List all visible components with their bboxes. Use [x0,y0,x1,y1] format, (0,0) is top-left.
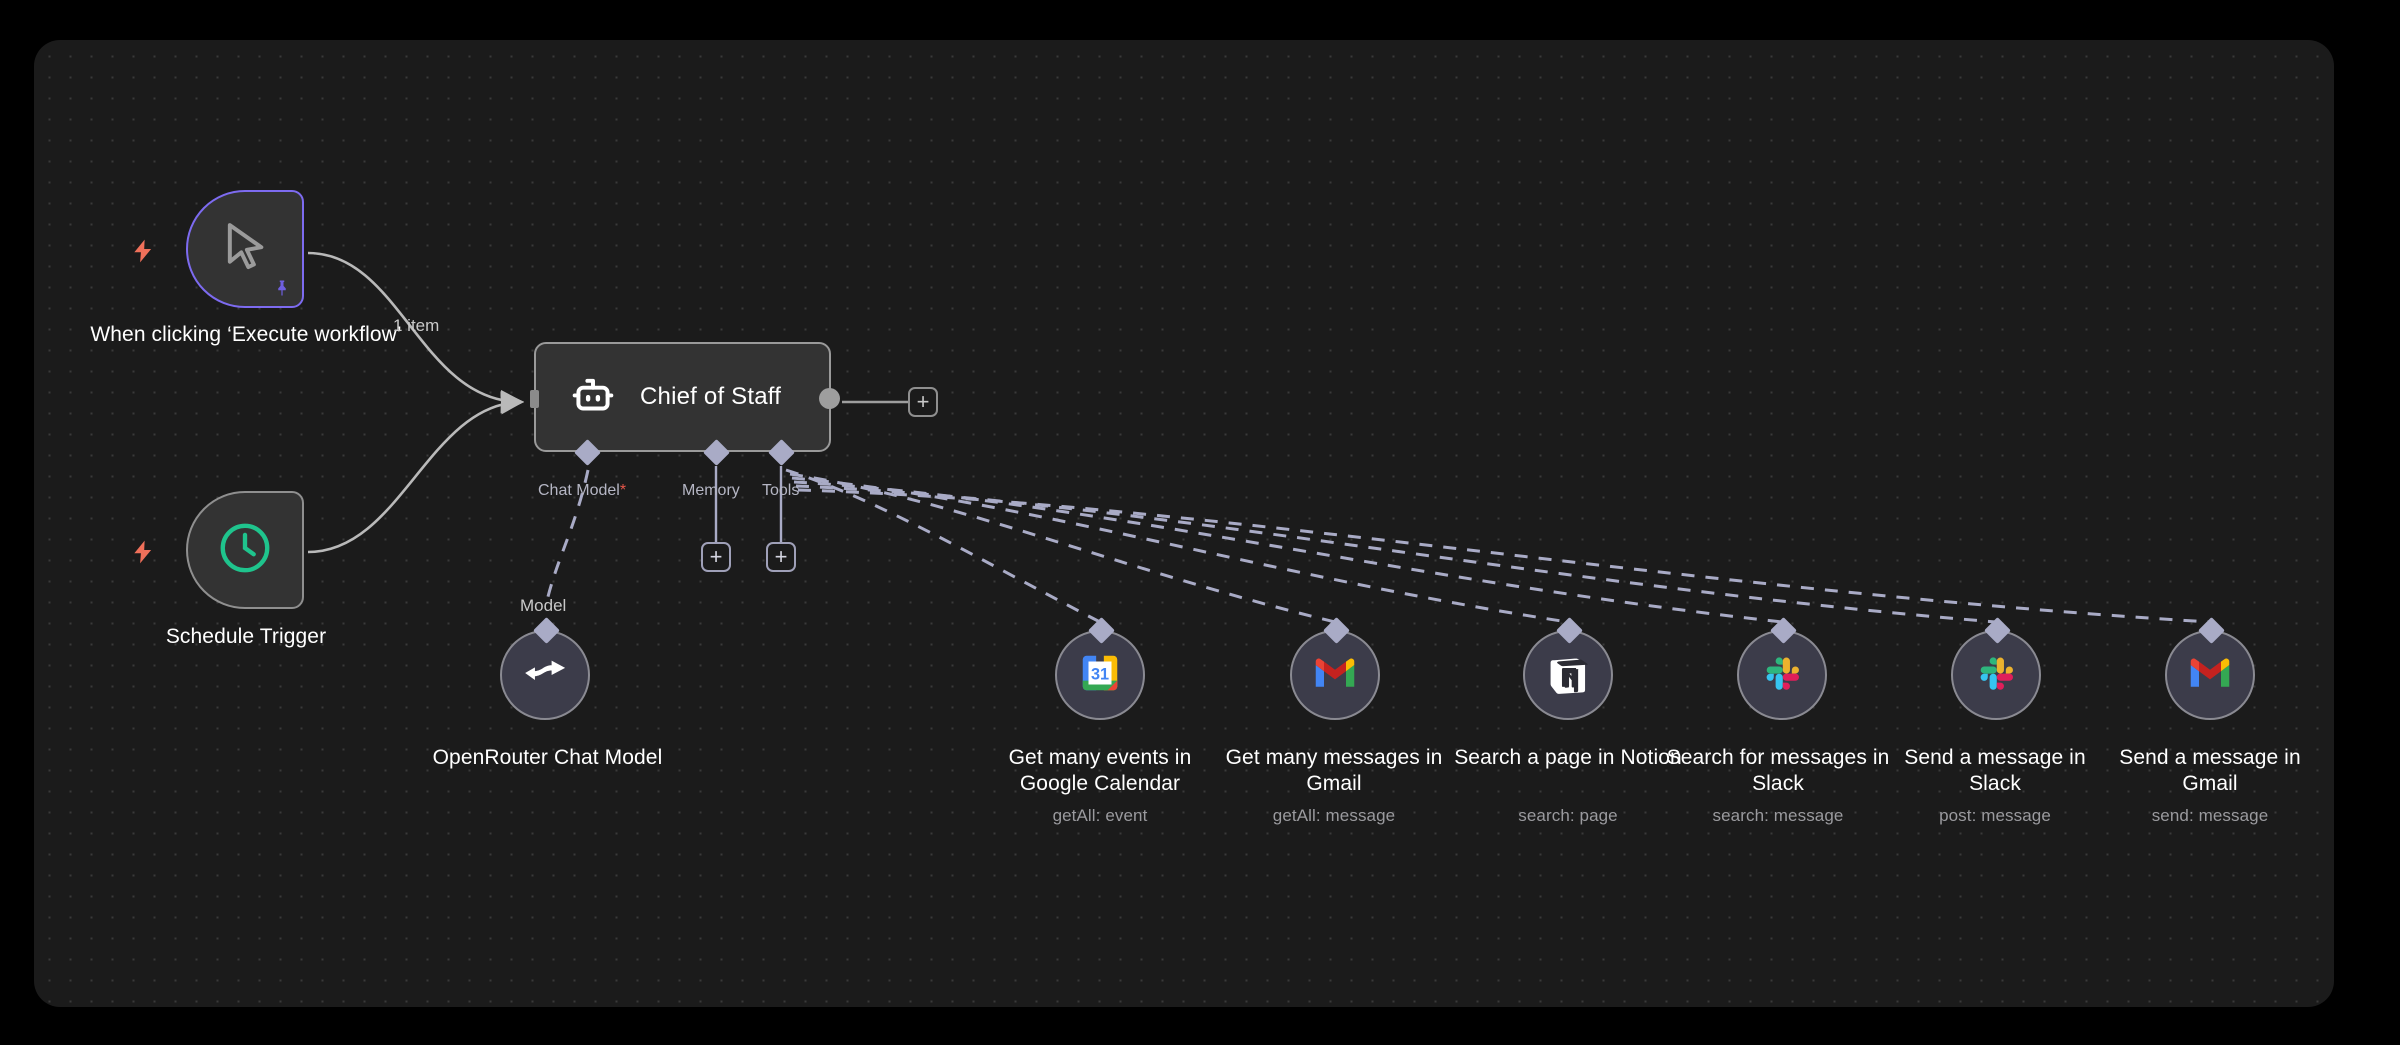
google-calendar-icon: 31 [1077,650,1123,701]
connector-tools-label: Tools [762,482,799,500]
node-slack-search-message[interactable] [1737,630,1827,720]
node-notion-subtitle: search: page [1453,805,1683,826]
node-manual-trigger[interactable] [186,190,304,308]
lightning-bolt-icon [130,236,156,266]
cursor-icon [217,218,273,281]
lightning-bolt-icon [130,537,156,567]
node-google-calendar-subtitle: getAll: event [985,805,1215,826]
node-google-calendar-label: Get many events in Google Calendar [985,745,1215,797]
agent-title: Chief of Staff [640,383,781,411]
node-google-calendar-getall-event[interactable]: 31 [1055,630,1145,720]
add-tool-button[interactable]: + [766,542,796,572]
node-openrouter-chat-model-label: OpenRouter Chat Model [430,745,665,771]
node-gmail-getall-subtitle: getAll: message [1218,805,1450,826]
node-manual-trigger-label: When clicking ‘Execute workflow’ [66,322,426,348]
workflow-canvas-page: When clicking ‘Execute workflow’ Schedul… [0,0,2400,1045]
svg-text:31: 31 [1091,665,1109,683]
openrouter-icon [522,650,568,701]
connector-memory-label: Memory [682,482,740,500]
notion-icon: N [1547,652,1589,699]
node-gmail-send-label: Send a message in Gmail [2092,745,2328,797]
node-slack-search-label: Search for messages in Slack [1660,745,1896,797]
gmail-icon [1313,656,1357,695]
node-slack-post-message[interactable] [1951,630,2041,720]
node-chief-of-staff-agent[interactable]: Chief of Staff [534,342,831,452]
add-memory-button[interactable]: + [701,542,731,572]
node-slack-post-label: Send a message in Slack [1878,745,2112,797]
node-slack-post-subtitle: post: message [1878,805,2112,826]
node-notion-search-page[interactable]: N [1523,630,1613,720]
gmail-icon [2188,656,2232,695]
pin-icon[interactable] [273,278,291,298]
add-next-node-button[interactable]: + [908,387,938,417]
node-openrouter-chat-model[interactable] [500,630,590,720]
slack-icon [1975,652,2017,699]
edge-label-1-item: 1 item [393,316,439,336]
node-gmail-send-message[interactable] [2165,630,2255,720]
node-schedule-trigger-label: Schedule Trigger [66,624,426,650]
node-notion-label: Search a page in Notion [1453,745,1683,771]
svg-text:N: N [1562,665,1574,684]
slack-icon [1761,652,1803,699]
agent-input-connector[interactable] [518,388,540,410]
node-gmail-send-subtitle: send: message [2092,805,2328,826]
node-slack-search-subtitle: search: message [1660,805,1896,826]
clock-icon [216,519,274,582]
node-gmail-getall-label: Get many messages in Gmail [1218,745,1450,797]
connector-chat-model-label: Chat Model* [538,482,626,500]
robot-icon [568,370,618,425]
workflow-canvas[interactable] [34,40,2334,1007]
node-schedule-trigger[interactable] [186,491,304,609]
agent-output-connector[interactable] [819,388,840,409]
edge-label-model: Model [520,596,566,616]
node-gmail-getall-message[interactable] [1290,630,1380,720]
